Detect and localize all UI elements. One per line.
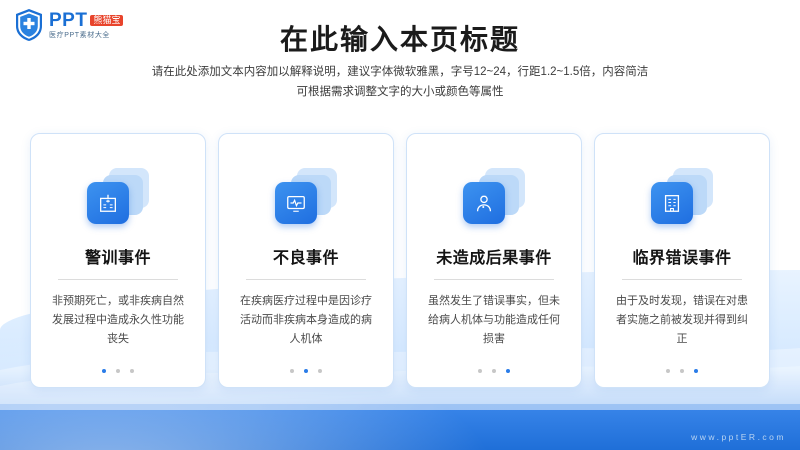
card-near-miss-event[interactable]: 临界错误事件 由于及时发现，错误在对患者实施之前被发现并得到纠正 [594, 133, 770, 388]
slide-canvas: PPT 熊猫宝 医疗PPT素材大全 在此输入本页标题 请在此处添加文本内容加以解… [0, 0, 800, 450]
dot [116, 369, 120, 373]
card-divider [434, 279, 554, 280]
card-body-text: 非预期死亡，或非疾病自然发展过程中造成永久性功能丧失 [48, 292, 188, 349]
logo-badge: 熊猫宝 [90, 15, 123, 26]
subtitle-line-2: 可根据需求调整文字的大小或颜色等属性 [0, 82, 800, 102]
card-title: 警训事件 [85, 244, 151, 268]
card-adverse-event[interactable]: 不良事件 在疾病医疗过程中是因诊疗活动而非疾病本身造成的病人机体 [218, 133, 394, 388]
clinic-building-icon [651, 182, 693, 224]
hospital-building-icon [87, 182, 129, 224]
card-divider [58, 279, 178, 280]
dot-active [506, 369, 510, 373]
footer-watermark: www.pptER.com [691, 432, 786, 442]
card-no-consequence-event[interactable]: 未造成后果事件 虽然发生了错误事实，但未给病人机体与功能造成任何损害 [406, 133, 582, 388]
dot [666, 369, 670, 373]
card-dots [31, 369, 205, 373]
card-icon-group [87, 168, 149, 224]
brand-logo: PPT 熊猫宝 医疗PPT素材大全 [14, 8, 123, 42]
card-body-text: 虽然发生了错误事实，但未给病人机体与功能造成任何损害 [424, 292, 564, 349]
dot-active [102, 369, 106, 373]
dot [130, 369, 134, 373]
card-divider [622, 279, 742, 280]
subtitle-line-1: 请在此处添加文本内容加以解释说明，建议字体微软雅黑，字号12~24，行距1.2~… [0, 62, 800, 82]
dot-active [694, 369, 698, 373]
doctor-icon [463, 182, 505, 224]
card-dots [595, 369, 769, 373]
dot [492, 369, 496, 373]
dot [318, 369, 322, 373]
logo-brand-text: PPT [49, 11, 87, 30]
card-icon-group [463, 168, 525, 224]
card-dots [407, 369, 581, 373]
card-row: 警训事件 非预期死亡，或非疾病自然发展过程中造成永久性功能丧失 [30, 133, 770, 388]
card-divider [246, 279, 366, 280]
page-subtitle: 请在此处添加文本内容加以解释说明，建议字体微软雅黑，字号12~24，行距1.2~… [0, 62, 800, 102]
logo-tagline: 医疗PPT素材大全 [49, 32, 123, 39]
card-dots [219, 369, 393, 373]
card-warning-event[interactable]: 警训事件 非预期死亡，或非疾病自然发展过程中造成永久性功能丧失 [30, 133, 206, 388]
shield-icon [14, 8, 44, 42]
card-body-text: 在疾病医疗过程中是因诊疗活动而非疾病本身造成的病人机体 [236, 292, 376, 349]
card-title: 临界错误事件 [632, 244, 731, 268]
card-title: 不良事件 [273, 244, 339, 268]
heart-monitor-icon [275, 182, 317, 224]
logo-text-block: PPT 熊猫宝 医疗PPT素材大全 [49, 11, 123, 39]
card-icon-group [275, 168, 337, 224]
card-body-text: 由于及时发现，错误在对患者实施之前被发现并得到纠正 [612, 292, 752, 349]
dot [680, 369, 684, 373]
card-icon-group [651, 168, 713, 224]
dot-active [304, 369, 308, 373]
dot [478, 369, 482, 373]
dot [290, 369, 294, 373]
card-title: 未造成后果事件 [436, 244, 552, 268]
